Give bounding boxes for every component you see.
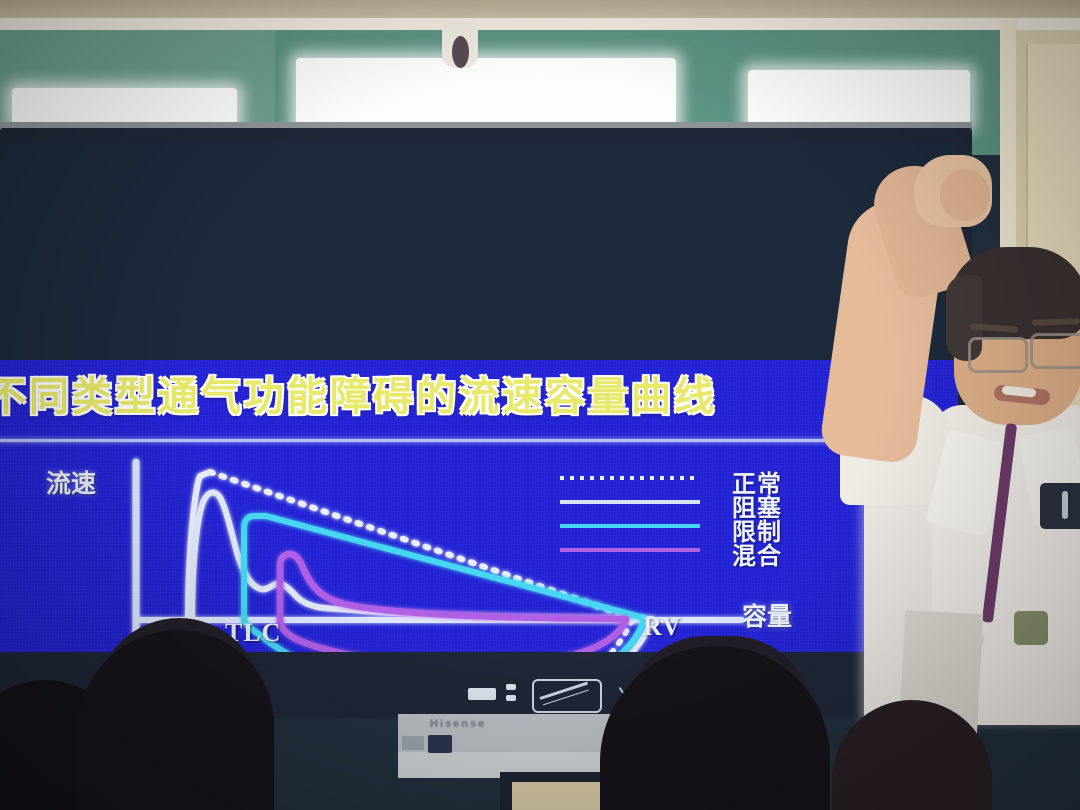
presenter-clip-device <box>1040 483 1080 529</box>
volume-icon[interactable] <box>532 679 602 713</box>
window-right <box>748 70 970 128</box>
presenter-clip-device-stripe <box>1062 491 1068 519</box>
legend-item-mixed: 混合 <box>560 538 830 562</box>
menu-dots-icon[interactable] <box>506 684 516 704</box>
chart-legend: 正常 阻塞 限制 混合 <box>560 466 830 562</box>
y-axis-label: 流速 <box>46 464 96 500</box>
source-indicator-icon <box>468 688 496 700</box>
x-axis-label: 容量 <box>742 597 792 633</box>
legend-swatch-obstructive <box>560 500 700 504</box>
brand-plate-slot-left <box>402 736 424 750</box>
legend-item-restrictive: 限制 <box>560 514 830 538</box>
presenter-fingers <box>940 169 990 221</box>
legend-item-obstructive: 阻塞 <box>560 490 830 514</box>
legend-swatch-normal <box>560 476 700 480</box>
photo-scene: 不同类型通气功能障碍的流速容量曲线 <box>0 0 1080 810</box>
glasses-lens-right-icon <box>1030 333 1080 369</box>
glasses-lens-left-icon <box>968 337 1028 373</box>
legend-label-mixed: 混合 <box>732 536 782 571</box>
brand-badge-icon <box>428 735 452 753</box>
brand-logo: Hisense <box>430 718 486 730</box>
legend-item-normal: 正常 <box>560 466 830 490</box>
legend-swatch-restrictive <box>560 524 700 528</box>
display-screen[interactable]: 不同类型通气功能障碍的流速容量曲线 <box>0 142 958 652</box>
presenter-badge <box>1014 611 1048 645</box>
legend-swatch-mixed <box>560 548 700 552</box>
camera-lens-icon <box>452 36 469 68</box>
rv-annotation: RV <box>643 612 682 642</box>
